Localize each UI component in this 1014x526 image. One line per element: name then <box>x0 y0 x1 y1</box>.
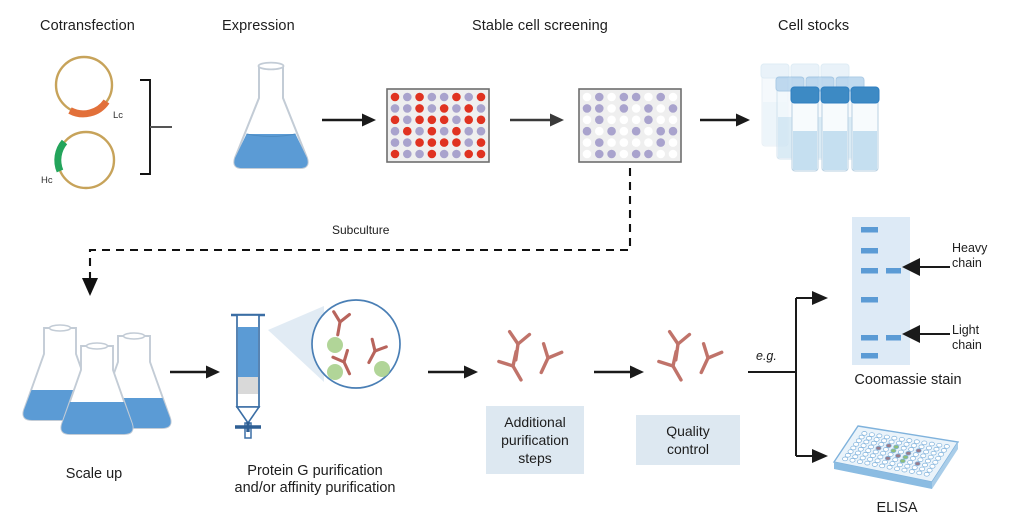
cotransfection-bracket <box>140 80 172 174</box>
arrow-expression-to-screening <box>322 112 378 128</box>
arrow-screening-to-stocks <box>700 112 752 128</box>
elisa-plate <box>832 420 962 494</box>
plasmid-label-hc: Hc <box>41 175 53 186</box>
light-chain-line2: chain <box>952 338 982 353</box>
stage-title-cotransfection: Cotransfection <box>40 18 135 34</box>
plasmid-label-lc: Lc <box>113 110 123 121</box>
light-chain-line1: Light <box>952 323 982 338</box>
light-chain-annotation: Light chain <box>952 323 982 353</box>
box-additional-purification: Additional purification steps <box>486 406 584 474</box>
caption-scale-up: Scale up <box>24 466 164 483</box>
caption-coomassie: Coomassie stain <box>818 372 998 389</box>
heavy-chain-line1: Heavy <box>952 241 987 256</box>
microplate-screened <box>578 88 682 163</box>
caption-purification: Protein G purification and/or affinity p… <box>210 463 420 497</box>
microplate-unscreened <box>386 88 490 163</box>
box-additional-purification-label: Additional purification steps <box>496 413 574 467</box>
arrow-additional-to-qc <box>594 364 646 380</box>
heavy-chain-annotation: Heavy chain <box>952 241 987 271</box>
antibody-cluster-additional <box>488 332 572 386</box>
workflow-diagram: Cotransfection Expression Stable cell sc… <box>0 0 1014 526</box>
box-quality-control: Quality control <box>636 415 740 465</box>
stage-title-expression: Expression <box>222 18 295 34</box>
caption-purification-line1: Protein G purification <box>210 463 420 480</box>
box-quality-control-label: Quality control <box>646 422 730 458</box>
stage-title-cell-stocks: Cell stocks <box>778 18 849 34</box>
stage-title-stable-cell-screening: Stable cell screening <box>472 18 608 34</box>
arrow-purification-to-additional <box>428 364 480 380</box>
light-chain-pointer <box>902 325 950 343</box>
light-chain-plasmid <box>56 57 112 114</box>
subculture-label: Subculture <box>332 223 389 237</box>
arrow-screening-progress <box>510 112 566 128</box>
arrow-scaleup-to-purification <box>170 364 222 380</box>
heavy-chain-pointer <box>902 258 950 276</box>
antibody-cluster-qc <box>648 332 732 386</box>
heavy-chain-line2: chain <box>952 256 987 271</box>
branch-label: e.g. <box>756 349 777 363</box>
magnifier-view <box>262 296 414 398</box>
expression-flask <box>228 60 314 175</box>
caption-purification-line2: and/or affinity purification <box>210 480 420 497</box>
caption-elisa: ELISA <box>832 500 962 517</box>
scale-up-flasks <box>22 322 168 442</box>
cell-stock-vials <box>756 60 906 175</box>
